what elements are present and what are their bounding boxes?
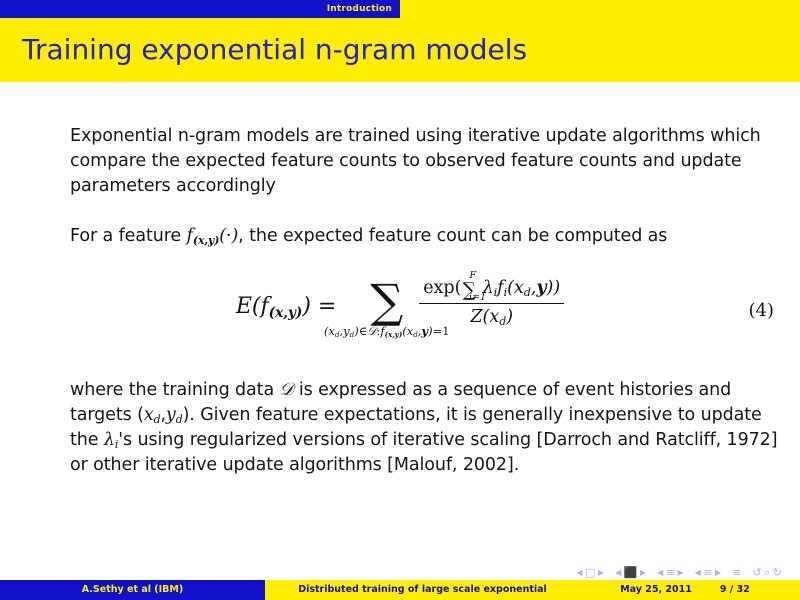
para3-y-sub: d [176,413,183,426]
slide-body: Exponential n-gram models are trained us… [0,82,800,550]
previous-section-icon[interactable]: ◀ [695,569,701,577]
limit-equals-one: =1 [433,324,450,338]
section-navigation-group[interactable]: ◀ ≡ ▶ [695,567,722,578]
eq-f: f [260,294,268,319]
footer-short-title: Distributed training of large scale expo… [265,580,580,600]
subsection-lines-icon[interactable]: ≡ [666,567,675,578]
numer-sigma-icon: ∑Fi=1 [462,279,476,301]
numer-arg-x: x [514,278,524,298]
next-subsection-icon[interactable]: ▶ [677,569,683,577]
para3-text-4: 's using regularized versions of iterati… [70,430,777,475]
next-slide-icon[interactable]: ▶ [598,569,604,577]
denom-close: ) [506,307,513,327]
numer-exp: exp( [423,278,461,298]
frame-square-icon[interactable]: ⬛ [624,567,638,578]
eq-E: E [236,294,252,319]
page-title: Training exponential n-gram models [0,36,527,64]
summation-index-limit: (xd,yd)∈𝒟:f(x,y)(xd,y)=1 [324,324,450,339]
next-frame-icon[interactable]: ▶ [640,569,646,577]
numer-sigma-upper: F [470,270,477,281]
forward-icon[interactable]: ↻ [773,567,782,578]
fraction-numerator: exp(∑Fi=1 λifi(xd,y)) [419,278,564,303]
sigma-icon: ∑ [370,278,403,324]
equation-number: (4) [749,300,775,321]
eq-equals: = [318,294,336,319]
numer-sigma-lower: i=1 [469,292,486,303]
footer-date: May 25, 2011 [620,585,692,595]
equation-summation: ∑ (xd,yd)∈𝒟:f(x,y)(xd,y)=1 [370,272,403,324]
frame-title-band: Training exponential n-gram models [0,18,800,82]
document-icon[interactable]: ≡ [732,567,741,578]
footer-meta: May 25, 2011 9 / 32 [580,580,800,600]
numer-arg-y-bold: y [536,278,546,298]
denom-Z: Z [470,307,482,327]
beamer-navigation-symbols[interactable]: ◀ □ ▶ ◀ ⬛ ▶ ◀ ≡ ▶ ◀ ≡ ▶ ≡ ↺ ⌕ ↻ [576,567,782,578]
para2-math-subscript: (x,y) [193,234,219,247]
search-icon[interactable]: ⌕ [764,567,770,578]
subsection-navigation-group[interactable]: ◀ ≡ ▶ [657,567,684,578]
slide-footer: A.Sethy et al (IBM) Distributed training… [0,580,800,600]
para3-cal-d: 𝒟 [280,380,294,400]
slide-navigation-group[interactable]: ◀ □ ▶ [576,567,604,578]
equation-fraction: exp(∑Fi=1 λifi(xd,y)) Z(xd) [419,272,564,328]
paragraph-intro: Exponential n-gram models are trained us… [70,124,770,199]
previous-slide-icon[interactable]: ◀ [576,569,582,577]
numer-close: )) [547,278,561,298]
next-section-icon[interactable]: ▶ [715,569,721,577]
frame-navigation-group[interactable]: ◀ ⬛ ▶ [615,567,646,578]
limit-f-sub: (x,y) [385,330,403,339]
footer-author: A.Sethy et al (IBM) [0,580,265,600]
para3-y: y [166,405,176,425]
equation-left-hand-side: E(f(x,y)) = [236,272,337,321]
section-tab-introduction[interactable]: Introduction [0,0,400,18]
previous-frame-icon[interactable]: ◀ [615,569,621,577]
numer-arg-x-sub: d [524,286,531,299]
back-icon[interactable]: ↺ [752,567,761,578]
section-lines-icon[interactable]: ≡ [703,567,712,578]
equation-row: E(f(x,y)) = ∑ (xd,yd)∈𝒟:f(x,y)(xd,y)=1 e… [0,272,800,328]
para2-math-arg: (·) [219,226,238,246]
eq-f-subscript: (x,y) [269,305,303,321]
previous-subsection-icon[interactable]: ◀ [657,569,663,577]
headline-navigation-bar: Introduction [0,0,800,18]
para3-x: x [144,405,154,425]
para3-lambda: λ [104,430,115,450]
footer-page-number: 9 / 32 [720,585,750,595]
denom-x: x [489,307,499,327]
history-navigation-group[interactable]: ↺ ⌕ ↻ [752,567,782,578]
para2-text-pre: For a feature [70,226,187,246]
paragraph-explanation: where the training data 𝒟 is expressed a… [70,378,782,477]
eq-close-paren: ) [302,294,311,319]
para2-text-post: , the expected feature count can be comp… [238,226,667,246]
equation-4-block: E(f(x,y)) = ∑ (xd,yd)∈𝒟:f(x,y)(xd,y)=1 e… [0,272,800,362]
slide-square-icon[interactable]: □ [585,567,595,578]
paragraph-feature-lead-in: For a feature f(x,y)(·), the expected fe… [70,224,780,249]
section-tab-label: Introduction [327,5,392,14]
numer-arg-open: ( [507,278,514,298]
para3-text-1: where the training data [70,380,280,400]
